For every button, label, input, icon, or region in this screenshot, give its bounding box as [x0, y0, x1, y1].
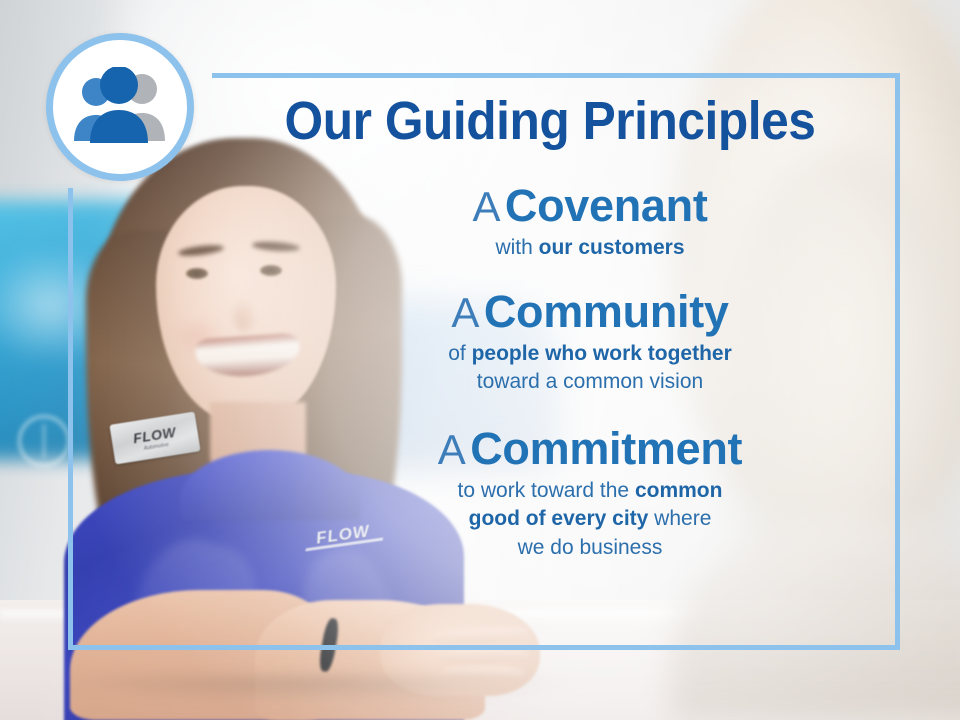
- principle-description: with our customers: [300, 234, 880, 263]
- text-run-bold: good of every city: [469, 507, 649, 530]
- people-group-icon: [66, 67, 174, 147]
- principle-commitment: A Commitment to work toward the common g…: [300, 425, 880, 562]
- principle-covenant: A Covenant with our customers: [300, 182, 880, 262]
- text-run: of: [448, 342, 471, 365]
- text-run-bold: people who work together: [472, 342, 732, 365]
- principle-line: with our customers: [495, 236, 684, 259]
- text-run-bold: our customers: [539, 236, 685, 259]
- principle-heading: A Community: [300, 288, 880, 336]
- principle-line: to work toward the common: [300, 477, 880, 506]
- principle-line: good of every city where: [300, 505, 880, 534]
- guiding-principles-poster: FLOW Automotive FLOW: [0, 0, 960, 720]
- page-title: Our Guiding Principles: [246, 94, 853, 148]
- text-run: we do business: [518, 536, 663, 559]
- text-run: to work toward the: [458, 479, 635, 502]
- text-run: with: [495, 236, 538, 259]
- principles-list: A Covenant with our customers A Communit…: [300, 182, 880, 576]
- principle-description: to work toward the common good of every …: [300, 477, 880, 563]
- principle-article: A: [438, 426, 466, 473]
- text-run-bold: common: [635, 479, 723, 502]
- principle-heading: A Commitment: [300, 425, 880, 473]
- principle-keyword: Commitment: [470, 423, 742, 474]
- principle-community: A Community of people who work together …: [300, 288, 880, 397]
- principle-heading: A Covenant: [300, 182, 880, 230]
- principle-line: we do business: [300, 534, 880, 563]
- principle-description: of people who work together toward a com…: [300, 340, 880, 397]
- text-run: where: [648, 507, 711, 530]
- principle-article: A: [472, 183, 500, 230]
- principle-article: A: [451, 289, 479, 336]
- principle-keyword: Community: [484, 286, 729, 337]
- people-group-badge: [46, 33, 194, 181]
- text-run: toward a common vision: [477, 370, 703, 393]
- principle-keyword: Covenant: [505, 180, 708, 231]
- principle-line: of people who work together: [306, 340, 874, 369]
- principle-line: toward a common vision: [306, 368, 874, 397]
